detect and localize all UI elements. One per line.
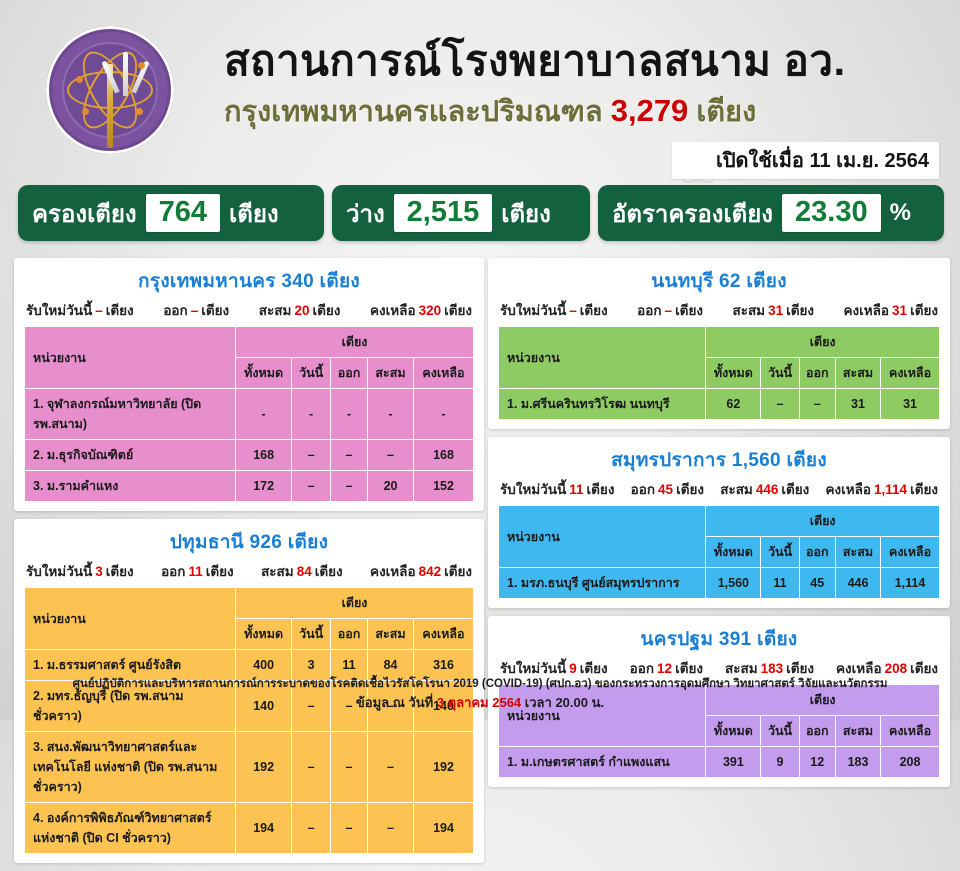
col-header-today: วันนี้ — [292, 619, 331, 650]
cell-today: – — [292, 471, 331, 502]
summary-remaining-label: คงเหลือ — [844, 303, 890, 318]
cell-cumulative: 446 — [835, 568, 880, 599]
subtitle-beds-unit: เตียง — [696, 96, 756, 128]
summary-cumulative-label: สะสม — [261, 564, 294, 579]
cell-remaining: 152 — [414, 471, 474, 502]
cell-total: 192 — [236, 732, 292, 803]
summary-out-unit: เตียง — [206, 564, 234, 579]
summary-new_today-unit: เตียง — [106, 564, 134, 579]
province-title: นครปฐม 391 เตียง — [498, 622, 940, 657]
summary-out: ออก45เตียง — [631, 478, 704, 500]
summary-out-label: ออก — [637, 303, 661, 318]
col-header-total: ทั้งหมด — [706, 358, 761, 389]
province-summary: รับใหม่วันนี้–เตียงออก–เตียงสะสม31เตียงค… — [498, 299, 940, 326]
beds-table: หน่วยงานเตียงทั้งหมดวันนี้ออกสะสมคงเหลือ… — [498, 505, 940, 599]
table-header-row-1: หน่วยงานเตียง — [499, 327, 940, 358]
summary-out-unit: เตียง — [675, 303, 703, 318]
cell-out: 12 — [799, 747, 835, 778]
cell-unit: 1. จุฬาลงกรณ์มหาวิทยาลัย (ปิด รพ.สนาม) — [25, 389, 236, 440]
summary-out-label: ออก — [163, 303, 187, 318]
summary-new_today-value: – — [566, 303, 580, 318]
summary-remaining-unit: เตียง — [910, 661, 938, 676]
summary-out-unit: เตียง — [676, 482, 704, 497]
summary-cumulative-unit: เตียง — [786, 661, 814, 676]
table-row: 1. จุฬาลงกรณ์มหาวิทยาลัย (ปิด รพ.สนาม)--… — [25, 389, 474, 440]
summary-remaining-label: คงเหลือ — [826, 482, 872, 497]
summary-new_today: รับใหม่วันนี้3เตียง — [26, 560, 134, 582]
cell-out: - — [331, 389, 368, 440]
summary-new_today-unit: เตียง — [580, 661, 608, 676]
summary-out: ออก11เตียง — [161, 560, 234, 582]
table-row: 1. มรภ.ธนบุรี ศูนย์สมุทรปราการ1,56011454… — [499, 568, 940, 599]
summary-new_today-value: – — [92, 303, 106, 318]
summary-out: ออก–เตียง — [163, 299, 229, 321]
electron-dot-icon — [136, 108, 143, 115]
cell-unit: 1. ม.ศรีนครินทรวิโรฒ นนทบุรี — [499, 389, 706, 420]
col-header-out: ออก — [799, 716, 835, 747]
summary-remaining-unit: เตียง — [910, 303, 938, 318]
summary-cumulative-value: 31 — [765, 303, 786, 318]
table-row: 3. สนง.พัฒนาวิทยาศาสตร์และเทคโนโลยี แห่ง… — [25, 732, 474, 803]
trident-prong-icon — [123, 52, 128, 96]
col-header-today: วันนี้ — [761, 358, 799, 389]
cell-cumulative: - — [368, 389, 414, 440]
summary-cumulative: สะสม446เตียง — [720, 478, 809, 500]
summary-new_today: รับใหม่วันนี้11เตียง — [500, 478, 614, 500]
summary-cumulative-value: 20 — [291, 303, 312, 318]
summary-cumulative-label: สะสม — [259, 303, 292, 318]
summary-remaining-value: 842 — [416, 564, 445, 579]
footer-date-label: ข้อมูล ณ วันที่ — [356, 695, 433, 710]
stat-occupancy-rate: อัตราครองเตียง 23.30 % — [598, 185, 944, 241]
cell-out: – — [331, 440, 368, 471]
summary-stats: ครองเตียง 764 เตียง ว่าง 2,515 เตียง อัต… — [0, 185, 960, 247]
col-header-today: วันนี้ — [292, 358, 331, 389]
col-header-out: ออก — [331, 358, 368, 389]
summary-cumulative-label: สะสม — [720, 482, 753, 497]
stat-occupied-beds: ครองเตียง 764 เตียง — [18, 185, 324, 241]
col-header-remaining: คงเหลือ — [414, 619, 474, 650]
summary-new_today-label: รับใหม่วันนี้ — [500, 303, 566, 318]
summary-cumulative-unit: เตียง — [315, 564, 343, 579]
page-header: สถานการณ์โรงพยาบาลสนาม อว. กรุงเทพมหานคร… — [0, 0, 960, 180]
stat-free-beds: ว่าง 2,515 เตียง — [332, 185, 590, 241]
col-header-out: ออก — [799, 358, 835, 389]
summary-new_today-value: 11 — [566, 482, 586, 497]
cell-total: 1,560 — [706, 568, 761, 599]
table-row: 3. ม.รามคำแหง172––20152 — [25, 471, 474, 502]
summary-cumulative-value: 183 — [758, 661, 787, 676]
stat-rate-value: 23.30 — [782, 194, 881, 232]
col-header-beds-group: เตียง — [236, 327, 474, 358]
cell-unit: 3. ม.รามคำแหง — [25, 471, 236, 502]
summary-out-unit: เตียง — [675, 661, 703, 676]
province-title: นนทบุรี 62 เตียง — [498, 264, 940, 299]
footer-date-value: 3 ตุลาคม 2564 — [437, 695, 521, 710]
summary-cumulative-label: สะสม — [725, 661, 758, 676]
col-header-beds-group: เตียง — [706, 506, 940, 537]
summary-cumulative-value: 84 — [294, 564, 315, 579]
col-header-beds-group: เตียง — [236, 588, 474, 619]
summary-new_today-label: รับใหม่วันนี้ — [26, 564, 92, 579]
cell-total: 172 — [236, 471, 292, 502]
summary-new_today-value: 3 — [92, 564, 106, 579]
summary-remaining: คงเหลือ1,114เตียง — [826, 478, 938, 500]
stat-free-unit: เตียง — [501, 194, 551, 233]
stat-occupied-label: ครองเตียง — [32, 194, 137, 233]
summary-cumulative-unit: เตียง — [786, 303, 814, 318]
cell-total: 194 — [236, 803, 292, 854]
stat-rate-unit: % — [890, 199, 911, 227]
summary-cumulative-unit: เตียง — [312, 303, 340, 318]
summary-new_today-label: รับใหม่วันนี้ — [26, 303, 92, 318]
cell-today: – — [292, 440, 331, 471]
cell-out: – — [331, 803, 368, 854]
table-header-row-1: หน่วยงานเตียง — [25, 327, 474, 358]
cell-cumulative: – — [368, 440, 414, 471]
summary-remaining: คงเหลือ842เตียง — [370, 560, 472, 582]
province-title: สมุทรปราการ 1,560 เตียง — [498, 443, 940, 478]
cell-total: 391 — [706, 747, 761, 778]
summary-remaining: คงเหลือ320เตียง — [370, 299, 472, 321]
cell-remaining: 31 — [881, 389, 940, 420]
summary-remaining-label: คงเหลือ — [836, 661, 882, 676]
page-footer: ศูนย์ปฏิบัติการและบริหารสถานการณ์การระบา… — [0, 676, 960, 714]
cell-cumulative: 183 — [835, 747, 880, 778]
summary-remaining-value: 31 — [889, 303, 910, 318]
beds-table: หน่วยงานเตียงทั้งหมดวันนี้ออกสะสมคงเหลือ… — [24, 587, 474, 854]
summary-out: ออก–เตียง — [637, 299, 703, 321]
table-header-row-1: หน่วยงานเตียง — [499, 506, 940, 537]
cell-remaining: 208 — [881, 747, 940, 778]
cell-cumulative: 20 — [368, 471, 414, 502]
summary-new_today: รับใหม่วันนี้–เตียง — [500, 299, 608, 321]
stat-rate-label: อัตราครองเตียง — [612, 194, 773, 233]
cell-today: – — [761, 389, 799, 420]
cell-remaining: 1,114 — [881, 568, 940, 599]
summary-out-label: ออก — [630, 661, 654, 676]
stat-occupied-unit: เตียง — [229, 194, 279, 233]
summary-remaining: คงเหลือ31เตียง — [844, 299, 938, 321]
footer-datetime-line: ข้อมูล ณ วันที่ 3 ตุลาคม 2564 เวลา 20.00… — [0, 693, 960, 714]
stat-free-value: 2,515 — [394, 194, 493, 232]
summary-cumulative-label: สะสม — [732, 303, 765, 318]
right-province-column: นนทบุรี 62 เตียงรับใหม่วันนี้–เตียงออก–เ… — [488, 258, 950, 795]
col-header-remaining: คงเหลือ — [881, 358, 940, 389]
subtitle-total-beds: 3,279 — [611, 93, 689, 128]
electron-dot-icon — [82, 108, 89, 115]
col-header-unit: หน่วยงาน — [25, 327, 236, 389]
summary-out-value: – — [662, 303, 676, 318]
col-header-total: ทั้งหมด — [236, 619, 292, 650]
summary-new_today-label: รับใหม่วันนี้ — [500, 661, 566, 676]
col-header-cumulative: สะสม — [835, 358, 880, 389]
cell-out: – — [331, 732, 368, 803]
cell-remaining: 192 — [414, 732, 474, 803]
logo-inner-disc — [62, 42, 158, 138]
summary-out-label: ออก — [631, 482, 655, 497]
subtitle-region: กรุงเทพมหานครและปริมณฑล — [224, 96, 603, 128]
stat-free-label: ว่าง — [346, 194, 385, 233]
electron-dot-icon — [138, 62, 145, 69]
cell-total: 168 — [236, 440, 292, 471]
beds-table: หน่วยงานเตียงทั้งหมดวันนี้ออกสะสมคงเหลือ… — [24, 326, 474, 502]
col-header-cumulative: สะสม — [368, 619, 414, 650]
summary-out-label: ออก — [161, 564, 185, 579]
stat-occupied-value: 764 — [146, 194, 220, 232]
col-header-today: วันนี้ — [761, 537, 799, 568]
footer-time-label: เวลา — [525, 695, 552, 710]
beds-table: หน่วยงานเตียงทั้งหมดวันนี้ออกสะสมคงเหลือ… — [498, 326, 940, 420]
page-subtitle: กรุงเทพมหานครและปริมณฑล 3,279 เตียง — [224, 88, 756, 134]
col-header-remaining: คงเหลือ — [881, 716, 940, 747]
col-header-unit: หน่วยงาน — [499, 506, 706, 568]
province-title: ปทุมธานี 926 เตียง — [24, 525, 474, 560]
col-header-unit: หน่วยงาน — [25, 588, 236, 650]
cell-today: - — [292, 389, 331, 440]
province-card-nonthaburi: นนทบุรี 62 เตียงรับใหม่วันนี้–เตียงออก–เ… — [488, 258, 950, 429]
footer-org-line: ศูนย์ปฏิบัติการและบริหารสถานการณ์การระบา… — [0, 676, 960, 693]
summary-new_today-unit: เตียง — [580, 303, 608, 318]
summary-cumulative: สะสม31เตียง — [732, 299, 814, 321]
summary-out-unit: เตียง — [201, 303, 229, 318]
province-summary: รับใหม่วันนี้–เตียงออก–เตียงสะสม20เตียงค… — [24, 299, 474, 326]
cell-out: – — [799, 389, 835, 420]
cell-today: 9 — [761, 747, 799, 778]
col-header-total: ทั้งหมด — [706, 537, 761, 568]
cell-out: 45 — [799, 568, 835, 599]
summary-remaining-unit: เตียง — [444, 303, 472, 318]
cell-cumulative: – — [368, 803, 414, 854]
table-row: 4. องค์การพิพิธภัณฑ์วิทยาศาสตร์ แห่งชาติ… — [25, 803, 474, 854]
summary-new_today-label: รับใหม่วันนี้ — [500, 482, 566, 497]
summary-remaining-value: 208 — [882, 661, 911, 676]
summary-remaining-label: คงเหลือ — [370, 303, 416, 318]
col-header-total: ทั้งหมด — [236, 358, 292, 389]
col-header-cumulative: สะสม — [368, 358, 414, 389]
summary-new_today-unit: เตียง — [106, 303, 134, 318]
left-province-column: กรุงเทพมหานคร 340 เตียงรับใหม่วันนี้–เตี… — [14, 258, 484, 871]
electron-dot-icon — [76, 76, 83, 83]
summary-out-value: 11 — [185, 564, 205, 579]
cell-unit: 2. ม.ธุรกิจบัณฑิตย์ — [25, 440, 236, 471]
table-row: 2. ม.ธุรกิจบัณฑิตย์168–––168 — [25, 440, 474, 471]
summary-remaining-label: คงเหลือ — [370, 564, 416, 579]
province-card-bangkok: กรุงเทพมหานคร 340 เตียงรับใหม่วันนี้–เตี… — [14, 258, 484, 511]
province-summary: รับใหม่วันนี้11เตียงออก45เตียงสะสม446เตี… — [498, 478, 940, 505]
cell-remaining: 168 — [414, 440, 474, 471]
province-card-samutprakan: สมุทรปราการ 1,560 เตียงรับใหม่วันนี้11เต… — [488, 437, 950, 608]
summary-new_today: รับใหม่วันนี้–เตียง — [26, 299, 134, 321]
table-row: 1. ม.เกษตรศาสตร์ กำแพงแสน391912183208 — [499, 747, 940, 778]
col-header-beds-group: เตียง — [706, 327, 940, 358]
summary-new_today-value: 9 — [566, 661, 580, 676]
summary-remaining-unit: เตียง — [910, 482, 938, 497]
cell-total: - — [236, 389, 292, 440]
cell-unit: 3. สนง.พัฒนาวิทยาศาสตร์และเทคโนโลยี แห่ง… — [25, 732, 236, 803]
col-header-cumulative: สะสม — [835, 716, 880, 747]
table-row: 1. ม.ศรีนครินทรวิโรฒ นนทบุรี62––3131 — [499, 389, 940, 420]
page-title: สถานการณ์โรงพยาบาลสนาม อว. — [224, 28, 846, 94]
col-header-total: ทั้งหมด — [706, 716, 761, 747]
province-summary: รับใหม่วันนี้3เตียงออก11เตียงสะสม84เตียง… — [24, 560, 474, 587]
footer-time-value: 20.00 น. — [555, 695, 604, 710]
summary-cumulative: สะสม84เตียง — [261, 560, 343, 582]
open-date-badge: เปิดใช้เมื่อ 11 เม.ย. 2564 — [672, 142, 939, 179]
summary-out-value: 12 — [654, 661, 675, 676]
cell-today: – — [292, 732, 331, 803]
col-header-today: วันนี้ — [761, 716, 799, 747]
summary-cumulative: สะสม20เตียง — [259, 299, 341, 321]
summary-new_today-unit: เตียง — [587, 482, 615, 497]
summary-out-value: 45 — [655, 482, 676, 497]
province-title: กรุงเทพมหานคร 340 เตียง — [24, 264, 474, 299]
col-header-remaining: คงเหลือ — [414, 358, 474, 389]
summary-remaining-unit: เตียง — [444, 564, 472, 579]
cell-total: 62 — [706, 389, 761, 420]
cell-cumulative: – — [368, 732, 414, 803]
col-header-unit: หน่วยงาน — [499, 327, 706, 389]
summary-cumulative-value: 446 — [753, 482, 782, 497]
summary-remaining-value: 320 — [416, 303, 445, 318]
cell-today: – — [292, 803, 331, 854]
cell-unit: 4. องค์การพิพิธภัณฑ์วิทยาศาสตร์ แห่งชาติ… — [25, 803, 236, 854]
ministry-logo — [46, 26, 174, 154]
col-header-remaining: คงเหลือ — [881, 537, 940, 568]
summary-remaining-value: 1,114 — [871, 482, 910, 497]
summary-cumulative-unit: เตียง — [781, 482, 809, 497]
cell-out: – — [331, 471, 368, 502]
summary-out-value: – — [188, 303, 202, 318]
cell-remaining: - — [414, 389, 474, 440]
cell-cumulative: 31 — [835, 389, 880, 420]
col-header-out: ออก — [799, 537, 835, 568]
table-header-row-1: หน่วยงานเตียง — [25, 588, 474, 619]
cell-unit: 1. ม.เกษตรศาสตร์ กำแพงแสน — [499, 747, 706, 778]
cell-today: 11 — [761, 568, 799, 599]
cell-unit: 1. มรภ.ธนบุรี ศูนย์สมุทรปราการ — [499, 568, 706, 599]
cell-remaining: 194 — [414, 803, 474, 854]
col-header-out: ออก — [331, 619, 368, 650]
col-header-cumulative: สะสม — [835, 537, 880, 568]
